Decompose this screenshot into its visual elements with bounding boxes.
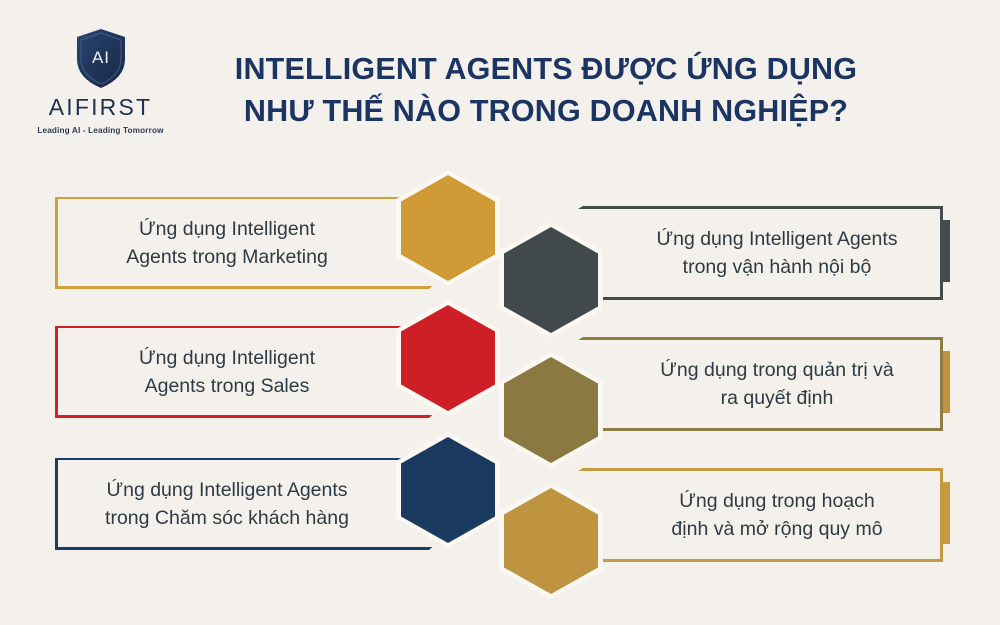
shield-ai-logo-icon: AI bbox=[28, 28, 173, 90]
svg-text:AI: AI bbox=[91, 48, 109, 67]
card-governance-decision[interactable]: Ứng dụng trong quản trị và ra quyết định bbox=[545, 337, 943, 431]
page-title-line-2: NHƯ THẾ NÀO TRONG DOANH NGHIỆP? bbox=[196, 90, 896, 132]
infographic-canvas: AI AIFIRST Leading AI - Leading Tomorrow… bbox=[0, 0, 1000, 625]
card-label: Ứng dụng Intelligent Agents trong Sales bbox=[65, 326, 389, 418]
card-accent-bar bbox=[943, 220, 950, 282]
card-planning-scaling[interactable]: Ứng dụng trong hoạch định và mở rộng quy… bbox=[545, 468, 943, 562]
page-title-line-1: INTELLIGENT AGENTS ĐƯỢC ỨNG DỤNG bbox=[235, 52, 857, 86]
brand-tagline: Leading AI - Leading Tomorrow bbox=[28, 126, 173, 135]
card-label: Ứng dụng Intelligent Agents trong Chăm s… bbox=[65, 458, 389, 550]
card-label: Ứng dụng trong quản trị và ra quyết định bbox=[623, 337, 931, 431]
card-sales[interactable]: Ứng dụng Intelligent Agents trong Sales bbox=[55, 326, 455, 418]
card-accent-bar bbox=[943, 351, 950, 413]
card-label: Ứng dụng trong hoạch định và mở rộng quy… bbox=[623, 468, 931, 562]
brand-logo-block: AI AIFIRST Leading AI - Leading Tomorrow bbox=[28, 28, 173, 135]
card-internal-operations[interactable]: Ứng dụng Intelligent Agents trong vận hà… bbox=[545, 206, 943, 300]
card-marketing[interactable]: Ứng dụng Intelligent Agents trong Market… bbox=[55, 197, 455, 289]
card-label: Ứng dụng Intelligent Agents trong Market… bbox=[65, 197, 389, 289]
page-title: INTELLIGENT AGENTS ĐƯỢC ỨNG DỤNG NHƯ THẾ… bbox=[196, 48, 896, 132]
brand-wordmark: AIFIRST bbox=[28, 94, 173, 121]
card-accent-bar bbox=[943, 482, 950, 544]
card-label: Ứng dụng Intelligent Agents trong vận hà… bbox=[623, 206, 931, 300]
card-customer-care[interactable]: Ứng dụng Intelligent Agents trong Chăm s… bbox=[55, 458, 455, 550]
